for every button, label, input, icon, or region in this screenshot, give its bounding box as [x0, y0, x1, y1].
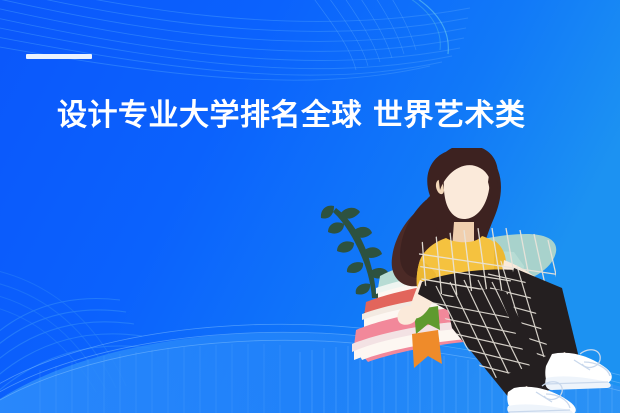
- page-title: 设计专业大学排名全球 世界艺术类: [57, 95, 605, 137]
- promo-banner: 设计专业大学排名全球 世界艺术类: [0, 0, 620, 413]
- title-underline-rule: [26, 54, 92, 59]
- illustration-woman-on-books: [318, 148, 620, 413]
- bookmark-orange: [412, 330, 442, 368]
- sneaker-back: [545, 350, 612, 390]
